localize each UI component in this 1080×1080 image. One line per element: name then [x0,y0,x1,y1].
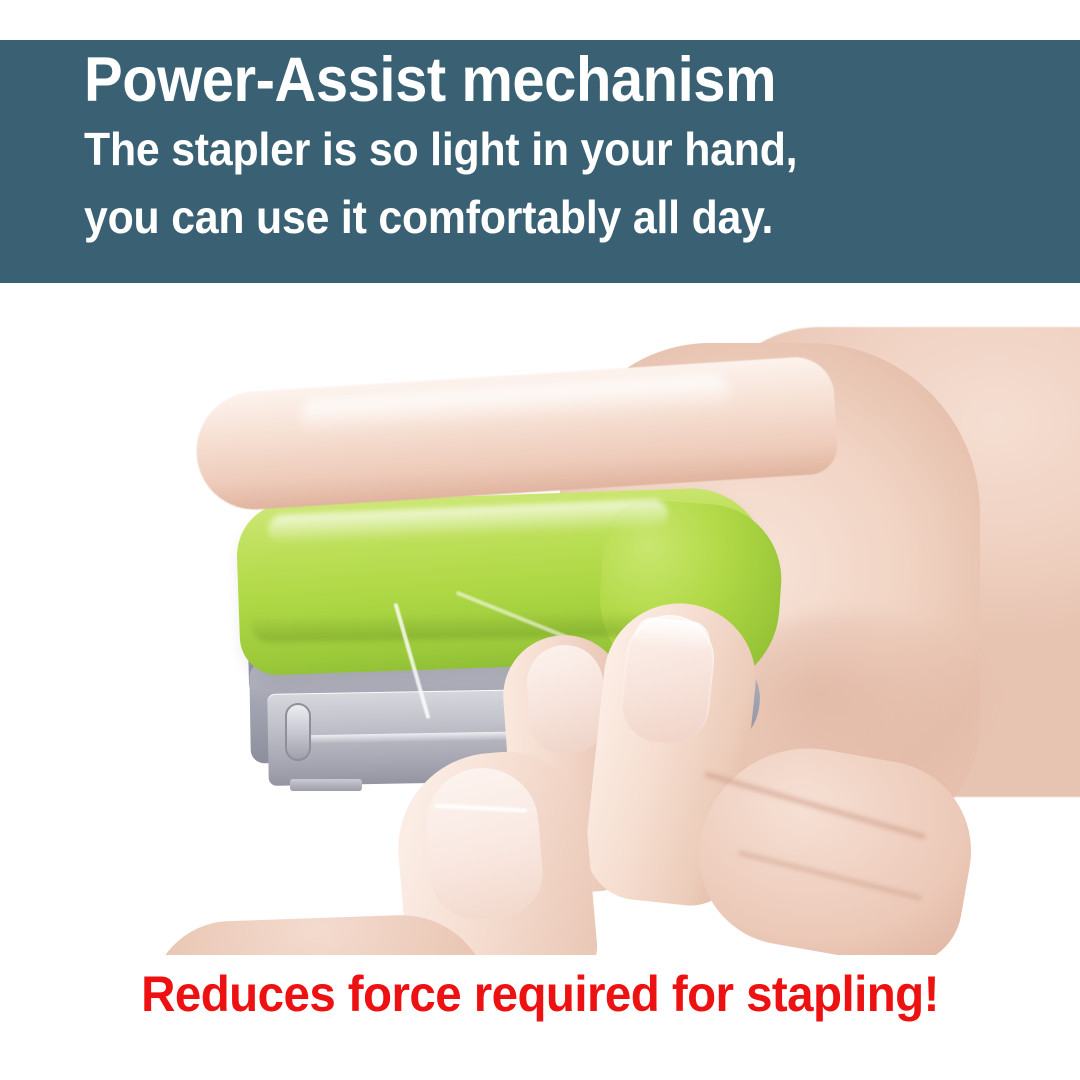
subtitle-line-2: you can use it comfortably all day. [84,186,1010,249]
product-photo [0,283,1080,955]
page-title: Power-Assist mechanism [84,46,1000,114]
subtitle-line-1: The stapler is so light in your hand, [84,118,1010,181]
index-finger [193,355,839,513]
hand-fingers-foreground [0,283,1080,955]
header-banner: Power-Assist mechanism The stapler is so… [0,40,1080,283]
footer-callout: Reduces force required for stapling! [27,965,1053,1023]
fore-finger-nail [524,642,607,755]
